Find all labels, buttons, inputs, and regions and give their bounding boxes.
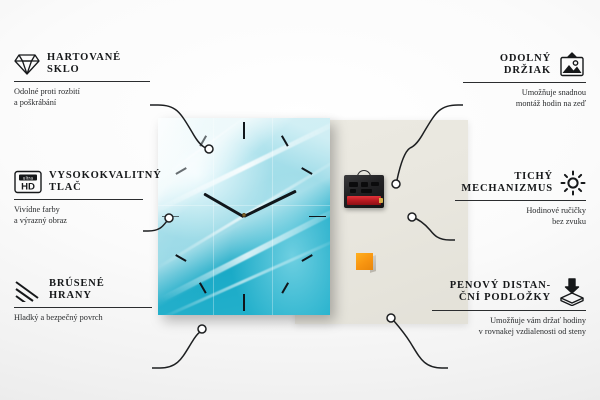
callout-title-line1: BRÚSENÉ [49, 278, 105, 290]
callout-vysokokvalitny-tlac[interactable]: ultra HD VYSOKOKVALITNÝ TLAČ Vivídne far… [14, 170, 143, 226]
stacked-pads-arrow-icon [558, 278, 586, 306]
callout-sub-line2: a poškrábání [14, 97, 150, 108]
ultra-hd-icon: ultra HD [14, 170, 42, 194]
callout-sub-line1: Hodinové ručičky [455, 205, 586, 216]
callout-title-line2: HRANY [49, 290, 105, 302]
picture-hanger-icon [558, 52, 586, 78]
callout-title-line1: VYSOKOKVALITNÝ [49, 170, 162, 182]
clock-tick [162, 216, 179, 218]
mechanism-body [344, 175, 384, 208]
svg-text:ultra: ultra [23, 176, 34, 181]
callout-head: ODOLNÝ DRŽIAK [463, 52, 586, 78]
callout-title: TICHÝ MECHANIZMUS [461, 171, 553, 196]
callout-title: BRÚSENÉ HRANY [49, 278, 105, 303]
callout-head: BRÚSENÉ HRANY [14, 278, 152, 303]
callout-title-line2: TLAČ [49, 182, 162, 194]
product-photo [140, 118, 468, 322]
clock-tick [309, 216, 326, 218]
callout-divider [14, 307, 152, 308]
glass-clock [158, 118, 330, 315]
foam-spacer-pad [356, 253, 376, 272]
callout-title: VYSOKOKVALITNÝ TLAČ [49, 170, 162, 195]
callout-sub-line2: v rovnakej vzdialenosti od steny [432, 326, 586, 337]
diamond-icon [14, 52, 40, 76]
callout-title-line1: HARTOVANÉ [47, 52, 121, 64]
clock-tick [243, 294, 245, 311]
callout-sub-line2: a výrazný obraz [14, 215, 143, 226]
callout-divider [14, 199, 143, 200]
callout-hartovane-sklo[interactable]: HARTOVANÉ SKLO Odolné proti rozbití a po… [14, 52, 150, 108]
callout-sub-line1: Odolné proti rozbití [14, 86, 150, 97]
callout-head: HARTOVANÉ SKLO [14, 52, 150, 77]
callout-title-line1: TICHÝ [461, 171, 553, 183]
callout-penove-distancni-podlozky[interactable]: PENOVÝ DISTAN- ČNÍ PODLOŽKY Umožňuje vám… [432, 278, 586, 337]
clock-tick [243, 122, 245, 139]
callout-title: PENOVÝ DISTAN- ČNÍ PODLOŽKY [450, 280, 551, 305]
callout-sub-line1: Umožňuje snadnou [463, 87, 586, 98]
callout-title-line2: SKLO [47, 64, 121, 76]
callout-sub-line2: montáž hodin na zeď [463, 98, 586, 109]
callout-odolny-drziak[interactable]: ODOLNÝ DRŽIAK Umožňuje snadnou montáž ho… [463, 52, 586, 109]
battery [347, 196, 381, 205]
callout-sub-line1: Umožňuje vám držať hodiny [432, 315, 586, 326]
callout-divider [14, 81, 150, 82]
callout-head: TICHÝ MECHANIZMUS [455, 170, 586, 196]
callout-title-line2: MECHANIZMUS [461, 183, 553, 195]
callout-sub-line1: Hladký a bezpečný povrch [14, 312, 152, 323]
mechanism-detail [349, 182, 379, 193]
callout-divider [455, 200, 586, 201]
callout-divider [432, 310, 586, 311]
clock-mechanism [344, 170, 384, 208]
callout-sub-line2: bez zvuku [455, 216, 586, 227]
callout-head: PENOVÝ DISTAN- ČNÍ PODLOŽKY [432, 278, 586, 306]
callout-brusene-hrany[interactable]: BRÚSENÉ HRANY Hladký a bezpečný povrch [14, 278, 152, 323]
callout-head: ultra HD VYSOKOKVALITNÝ TLAČ [14, 170, 143, 195]
callout-title-line1: ODOLNÝ [500, 53, 551, 65]
svg-text:HD: HD [21, 182, 35, 193]
infographic-canvas: HARTOVANÉ SKLO Odolné proti rozbití a po… [0, 0, 600, 400]
callout-title-line1: PENOVÝ DISTAN- [450, 280, 551, 292]
callout-title: ODOLNÝ DRŽIAK [500, 53, 551, 78]
callout-title-line2: DRŽIAK [500, 65, 551, 77]
callout-tichy-mechanizmus[interactable]: TICHÝ MECHANIZMUS Hodinové ručičky bez z… [455, 170, 586, 227]
callout-sub-line1: Vivídne farby [14, 204, 143, 215]
beveled-edges-icon [14, 278, 42, 302]
clock-center-pin [242, 213, 246, 217]
callout-title: HARTOVANÉ SKLO [47, 52, 121, 77]
callout-title-line2: ČNÍ PODLOŽKY [450, 292, 551, 304]
gear-icon [560, 170, 586, 196]
callout-divider [463, 82, 586, 83]
